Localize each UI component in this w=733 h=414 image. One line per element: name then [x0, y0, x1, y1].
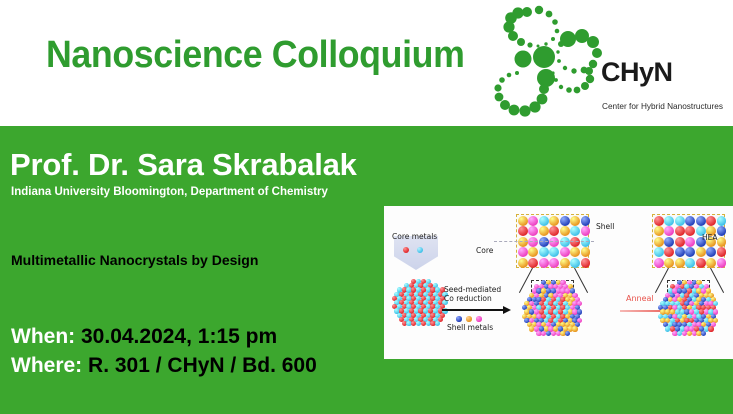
page-header: Nanoscience Colloquium — [0, 0, 733, 126]
atom-sphere — [717, 258, 727, 268]
nanocrystal-synthesis-figure: Core metals Seed-mediated Co reduction S… — [384, 206, 733, 359]
event-where-row: Where: R. 301 / CHyN / Bd. 600 — [11, 351, 317, 380]
where-label: Where: — [11, 354, 82, 377]
atom-sphere — [664, 226, 674, 236]
seed-mediated-arrow — [442, 309, 504, 311]
atom-sphere — [549, 258, 559, 268]
atom-sphere — [581, 247, 591, 257]
atom-sphere — [528, 226, 538, 236]
when-value: 30.04.2024, 1:15 pm — [81, 325, 277, 348]
atom-sphere — [528, 247, 538, 257]
speaker-name: Prof. Dr. Sara Skrabalak — [10, 147, 357, 183]
atom-sphere — [664, 258, 674, 268]
atom-sphere — [664, 216, 674, 226]
atom-sphere — [675, 226, 685, 236]
atom-sphere — [706, 258, 716, 268]
when-label: When: — [11, 325, 75, 348]
seed-line2: Co reduction — [444, 294, 492, 303]
chyn-wordmark: CHyN — [601, 57, 673, 88]
atom-sphere — [654, 247, 664, 257]
figure-label-shell-metals: Shell metals — [447, 323, 493, 332]
atom-sphere — [570, 216, 580, 226]
atom-sphere — [685, 237, 695, 247]
figure-label-shell: Shell — [596, 222, 614, 231]
atom-sphere — [717, 216, 727, 226]
atom-sphere — [685, 226, 695, 236]
atom-sphere — [549, 247, 559, 257]
atom-sphere — [435, 321, 440, 326]
atom-sphere — [581, 216, 591, 226]
shell-metal-dot-blue — [456, 316, 462, 322]
chyn-logo: CHyN Center for Hybrid Nanostructures — [489, 4, 733, 122]
figure-label-core-metals: Core metals — [392, 232, 437, 241]
atom-sphere — [565, 331, 570, 336]
talk-title: Multimetallic Nanocrystals by Design — [11, 252, 258, 268]
shell-metal-dot-orange — [466, 316, 472, 322]
atom-sphere — [560, 247, 570, 257]
shell-metal-dot-pink — [476, 316, 482, 322]
atom-sphere — [570, 226, 580, 236]
figure-label-anneal: Anneal — [626, 294, 654, 303]
atom-sphere — [539, 226, 549, 236]
figure-label-hea: HEA — [702, 233, 718, 242]
atom-sphere — [654, 226, 664, 236]
atom-sphere — [664, 237, 674, 247]
atom-sphere — [664, 247, 674, 257]
atom-sphere — [549, 216, 559, 226]
atom-sphere — [685, 258, 695, 268]
funnel-shape — [394, 236, 438, 270]
core-shell-nanoparticle — [522, 280, 584, 352]
atom-sphere — [560, 226, 570, 236]
figure-label-seed-mediated: Seed-mediated Co reduction — [444, 285, 501, 303]
chyn-dots-logo-icon — [489, 4, 609, 120]
seed-line1: Seed-mediated — [444, 285, 501, 294]
event-banner: Prof. Dr. Sara Skrabalak Indiana Univers… — [0, 126, 733, 414]
page-title: Nanoscience Colloquium — [46, 34, 464, 77]
atom-sphere — [696, 216, 706, 226]
atom-sphere — [570, 247, 580, 257]
atom-sphere — [560, 258, 570, 268]
atom-sphere — [685, 216, 695, 226]
atom-sphere — [717, 247, 727, 257]
hea-nanoparticle — [658, 280, 720, 352]
atom-sphere — [706, 247, 716, 257]
atom-sphere — [717, 226, 727, 236]
atom-sphere — [518, 258, 528, 268]
core-metal-dot-cyan — [417, 247, 423, 253]
chyn-tagline: Center for Hybrid Nanostructures — [602, 101, 723, 111]
atom-sphere — [717, 237, 727, 247]
atom-sphere — [560, 216, 570, 226]
atom-sphere — [528, 258, 538, 268]
atom-sphere — [685, 247, 695, 257]
atom-sphere — [539, 216, 549, 226]
atom-sphere — [701, 331, 706, 336]
atom-sphere — [708, 326, 713, 331]
atom-sphere — [518, 226, 528, 236]
atom-sphere — [570, 258, 580, 268]
atom-sphere — [581, 258, 591, 268]
event-when-row: When: 30.04.2024, 1:15 pm — [11, 322, 317, 351]
core-metal-dot-red — [403, 247, 409, 253]
atom-sphere — [675, 247, 685, 257]
atom-sphere — [675, 216, 685, 226]
event-details: When: 30.04.2024, 1:15 pm Where: R. 301 … — [11, 322, 317, 380]
where-value: R. 301 / CHyN / Bd. 600 — [88, 354, 317, 377]
atom-sphere — [518, 216, 528, 226]
atom-sphere — [675, 237, 685, 247]
atom-sphere — [549, 226, 559, 236]
atom-sphere — [654, 258, 664, 268]
atom-sphere — [581, 226, 591, 236]
core-shell-divider — [494, 241, 594, 242]
atom-sphere — [539, 247, 549, 257]
atom-sphere — [518, 247, 528, 257]
atom-sphere — [696, 247, 706, 257]
atom-sphere — [572, 326, 577, 331]
atom-sphere — [654, 216, 664, 226]
atom-sphere — [528, 216, 538, 226]
atom-sphere — [706, 216, 716, 226]
atom-sphere — [654, 237, 664, 247]
atom-sphere — [675, 258, 685, 268]
atom-sphere — [696, 258, 706, 268]
speaker-affiliation: Indiana University Bloomington, Departme… — [11, 186, 328, 198]
figure-label-core: Core — [476, 246, 493, 255]
atom-sphere — [539, 258, 549, 268]
